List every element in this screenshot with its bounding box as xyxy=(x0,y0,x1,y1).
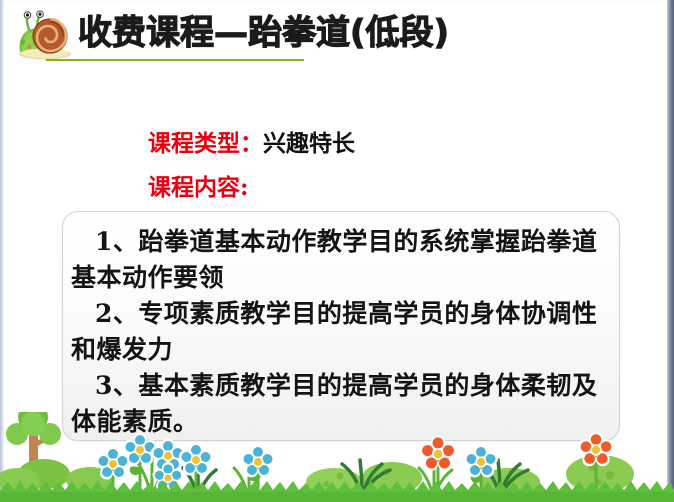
course-content-panel: 1、跆拳道基本动作教学目的系统掌握跆拳道基本动作要领 2、专项素质教学目的提高学… xyxy=(62,211,620,441)
snail-icon xyxy=(12,10,74,60)
grass-flowers-tree-scene xyxy=(0,412,674,502)
title-underline-rule xyxy=(46,59,304,61)
course-content-body: 1、跆拳道基本动作教学目的系统掌握跆拳道基本动作要领 2、专项素质教学目的提高学… xyxy=(63,212,619,440)
content-line-2: 2、专项素质教学目的提高学员的身体协调性和爆发力 xyxy=(71,296,609,368)
content-line-1: 1、跆拳道基本动作教学目的系统掌握跆拳道基本动作要领 xyxy=(71,224,609,296)
course-type-value: 兴趣特长 xyxy=(263,130,355,157)
course-content-label: 课程内容: xyxy=(148,173,249,203)
slide-header: 收费课程—跆拳道(低段) xyxy=(0,0,674,72)
page-title: 收费课程—跆拳道(低段) xyxy=(78,8,578,58)
course-type-label: 课程类型： xyxy=(148,130,263,157)
course-type-row: 课程类型：兴趣特长 xyxy=(148,129,355,159)
slide-canvas: 收费课程—跆拳道(低段) 课程类型：兴趣特长 课程内容: 1、跆拳道基本动作教学… xyxy=(0,0,674,502)
